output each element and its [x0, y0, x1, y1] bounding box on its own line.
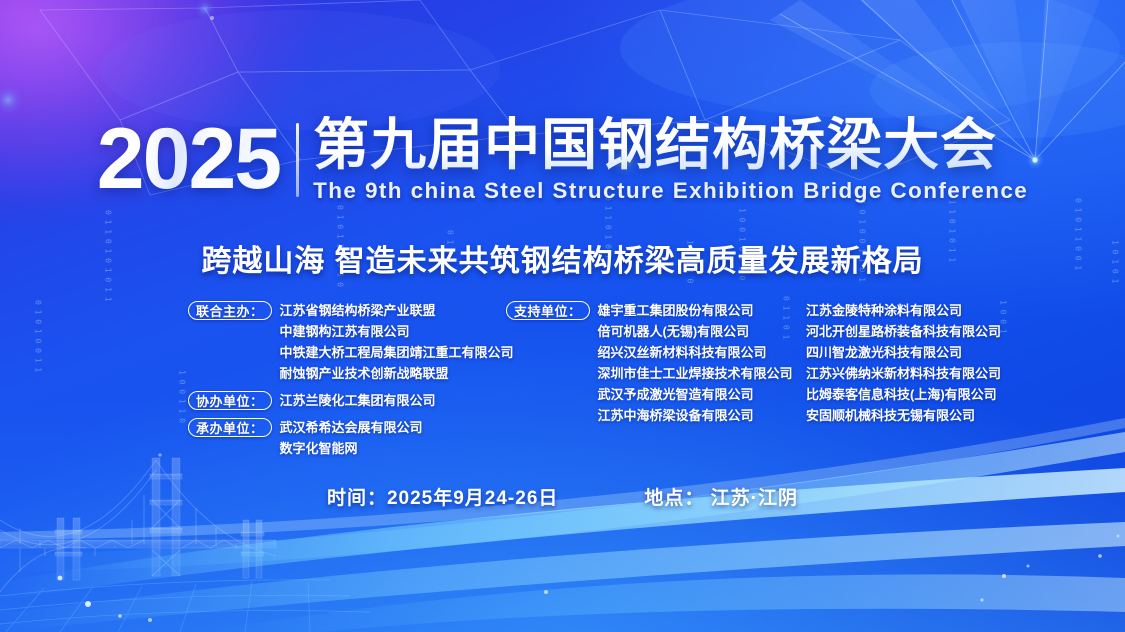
headline-row: 2025 第九届中国钢结构桥梁大会 The 9th china Steel St… [0, 110, 1125, 210]
list-item: 江苏兰陵化工集团有限公司 [280, 390, 436, 411]
list-item: 雄宇重工集团股份有限公司 [598, 300, 793, 321]
list-item: 武汉希希达会展有限公司 [280, 417, 423, 438]
page-subtitle-en: The 9th china Steel Structure Exhibition… [313, 178, 1028, 204]
list-item: 倍可机器人(无锡)有限公司 [598, 321, 793, 342]
list-item: 江苏中海桥梁设备有限公司 [598, 405, 793, 426]
support-items: 雄宇重工集团股份有限公司 倍可机器人(无锡)有限公司 绍兴汉丝新材料科技有限公司… [598, 300, 793, 426]
list-item: 江苏金陵特种涂料有限公司 [806, 300, 1106, 321]
organizer-column-right: 江苏金陵特种涂料有限公司 河北开创星路桥装备科技有限公司 四川智龙激光科技有限公… [806, 300, 1106, 426]
year-2025: 2025 [97, 120, 294, 199]
organizer-group: 协办单位： 江苏兰陵化工集团有限公司 [188, 390, 488, 411]
list-item: 耐蚀钢产业技术创新战略联盟 [280, 363, 514, 384]
organizer-items: 江苏兰陵化工集团有限公司 [280, 390, 436, 411]
list-item: 安固顺机械科技无锡有限公司 [806, 405, 1106, 426]
label-co-organizer: 协办单位： [188, 391, 272, 410]
list-item: 绍兴汉丝新材料科技有限公司 [598, 342, 793, 363]
organizer-group: 承办单位： 武汉希希达会展有限公司 数字化智能网 [188, 417, 488, 459]
list-item: 河北开创星路桥装备科技有限公司 [806, 321, 1106, 342]
list-item: 深圳市佳士工业焊接技术有限公司 [598, 363, 793, 384]
support-group: 支持单位： 雄宇重工集团股份有限公司 倍可机器人(无锡)有限公司 绍兴汉丝新材料… [506, 300, 796, 426]
list-item: 中建钢构江苏有限公司 [280, 321, 514, 342]
event-meta: 时间：2025年9月24-26日 地点： 江苏·江阴 [0, 483, 1125, 510]
list-item: 江苏省钢结构桥梁产业联盟 [280, 300, 514, 321]
tagline: 跨越山海 智造未来共筑钢结构桥梁高质量发展新格局 [0, 236, 1125, 280]
organizer-column-middle: 支持单位： 雄宇重工集团股份有限公司 倍可机器人(无锡)有限公司 绍兴汉丝新材料… [506, 300, 796, 432]
support-items-extra: 江苏金陵特种涂料有限公司 河北开创星路桥装备科技有限公司 四川智龙激光科技有限公… [806, 300, 1106, 426]
label-joint-host: 联合主办： [188, 301, 272, 320]
list-item: 江苏兴佛纳米新材料科技有限公司 [806, 363, 1106, 384]
organizer-group: 联合主办： 江苏省钢结构桥梁产业联盟 中建钢构江苏有限公司 中铁建大桥工程局集团… [188, 300, 488, 384]
organizer-column-left: 联合主办： 江苏省钢结构桥梁产业联盟 中建钢构江苏有限公司 中铁建大桥工程局集团… [188, 300, 488, 465]
list-item: 武汉予成激光智造有限公司 [598, 384, 793, 405]
event-date: 时间：2025年9月24-26日 [327, 483, 558, 510]
title-divider [296, 123, 299, 197]
event-location: 地点： 江苏·江阴 [644, 483, 798, 510]
organizers-section: 联合主办： 江苏省钢结构桥梁产业联盟 中建钢构江苏有限公司 中铁建大桥工程局集团… [0, 300, 1125, 450]
organizer-items: 武汉希希达会展有限公司 数字化智能网 [280, 417, 423, 459]
list-item: 四川智龙激光科技有限公司 [806, 342, 1106, 363]
list-item: 中铁建大桥工程局集团靖江重工有限公司 [280, 342, 514, 363]
organizer-items: 江苏省钢结构桥梁产业联盟 中建钢构江苏有限公司 中铁建大桥工程局集团靖江重工有限… [280, 300, 514, 384]
label-undertaker: 承办单位： [188, 418, 272, 437]
page-title: 第九届中国钢结构桥梁大会 [313, 116, 1028, 173]
headline-stack: 第九届中国钢结构桥梁大会 The 9th china Steel Structu… [313, 116, 1028, 203]
conference-banner: 0 1 0 1 0 0 1 1 0 1 1 0 1 0 1 0 1 1 1 0 … [0, 0, 1125, 632]
list-item: 比姆泰客信息科技(上海)有限公司 [806, 384, 1106, 405]
label-support-unit: 支持单位： [506, 301, 590, 320]
list-item: 数字化智能网 [280, 438, 423, 459]
